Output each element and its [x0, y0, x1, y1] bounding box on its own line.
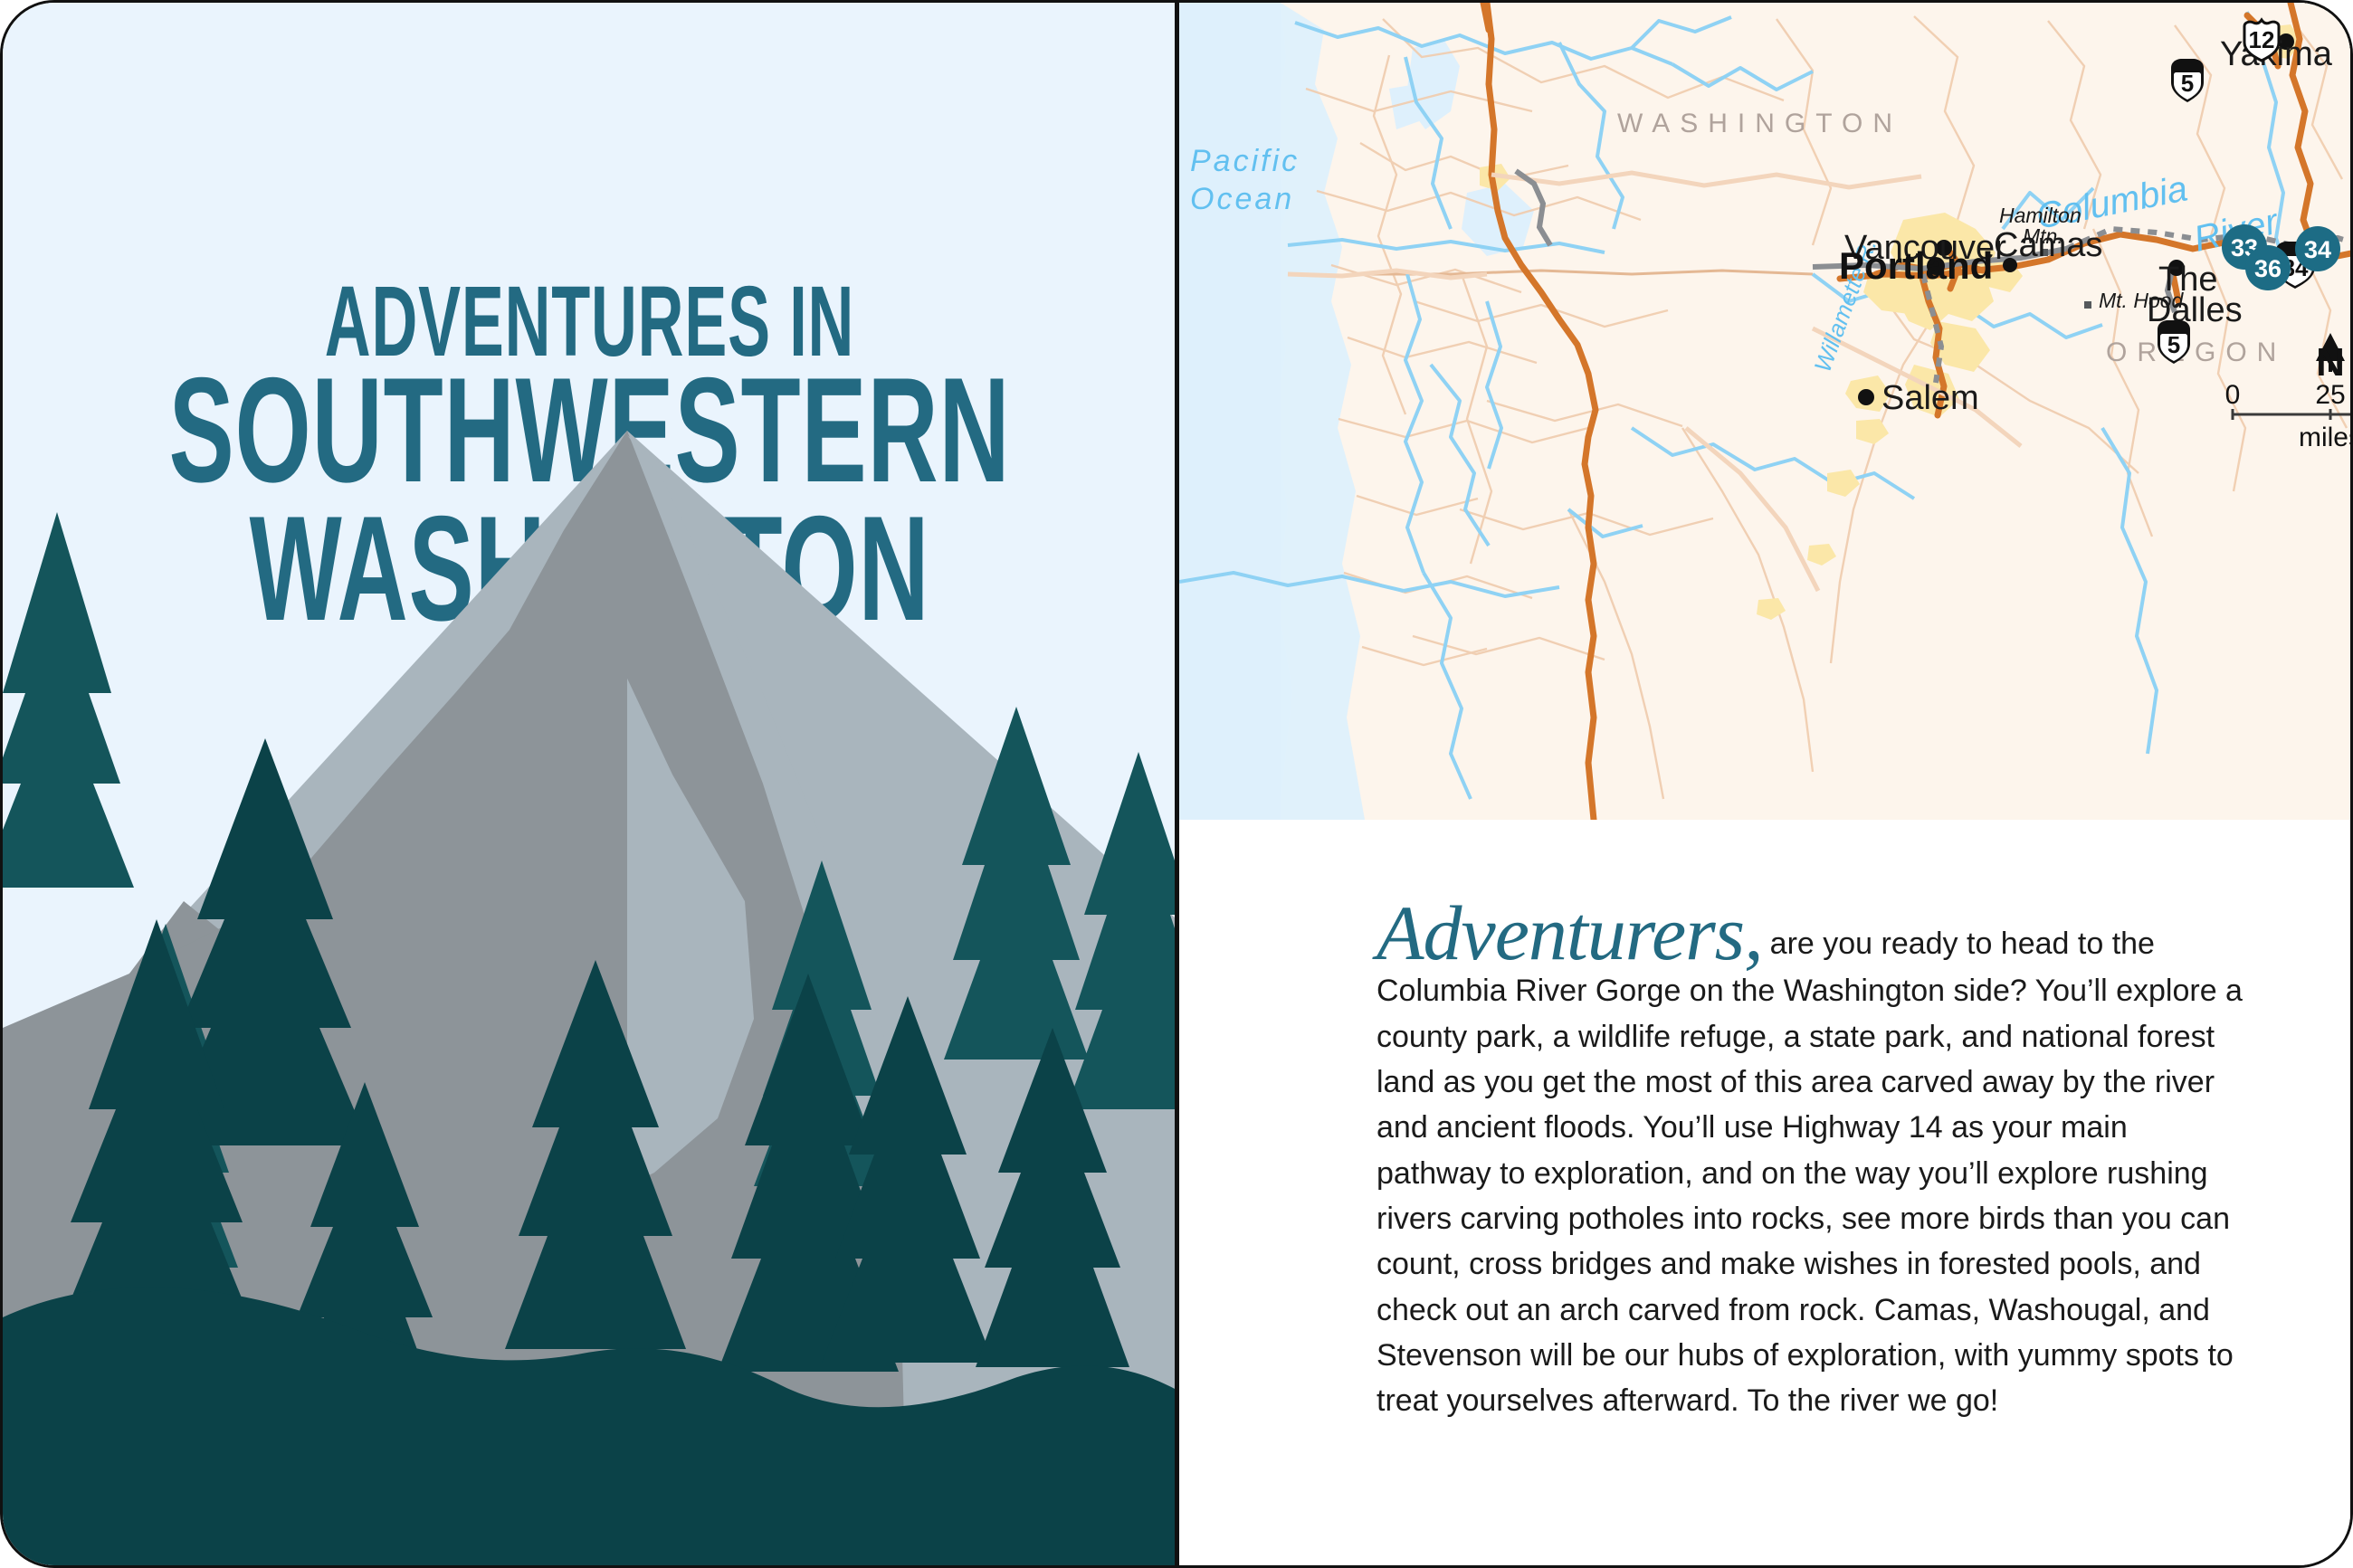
region-locator-map[interactable]: Pacific Ocean WASHINGTON OREGON Columbia… — [1179, 3, 2353, 820]
route-shield-label-5-south: 5 — [2167, 331, 2180, 358]
scale-tick-0: 0 — [2225, 380, 2241, 410]
map-label-city-portland: Portland — [1839, 244, 1993, 287]
map-label-pacific-ocean-line1: Pacific — [1190, 144, 1300, 178]
scale-unit-label: miles — [2299, 423, 2353, 452]
mountain-forest-illustration — [3, 394, 1176, 1568]
intro-body-text: are you ready to head to the Columbia Ri… — [1377, 927, 2243, 1418]
map-label-state-oregon: OREGON — [2106, 337, 2286, 367]
site-marker-36[interactable]: 36 — [2245, 245, 2291, 290]
site-marker-label-34: 34 — [2304, 236, 2331, 263]
left-page: ADVENTURES IN SOUTHWESTERN WASHINGTON — [3, 3, 1176, 1568]
route-shield-label-12: 12 — [2249, 26, 2275, 53]
city-dot-salem — [1858, 389, 1874, 405]
intro-copy-block: Adventurers,are you ready to head to the… — [1377, 898, 2245, 1424]
compass-north-indicator: N — [2316, 333, 2345, 385]
peak-marker-mt-hood — [2084, 301, 2091, 309]
book-spread: ADVENTURES IN SOUTHWESTERN WASHINGTON — [0, 0, 2353, 1568]
route-shield-us-12: 12 — [2244, 20, 2279, 61]
map-label-pacific-ocean-line2: Ocean — [1190, 182, 1294, 216]
route-shield-label-5-north: 5 — [2181, 70, 2194, 97]
intro-greeting: Adventurers, — [1377, 889, 1770, 976]
map-label-state-washington: WASHINGTON — [1617, 109, 1902, 138]
map-label-city-camas: Camas — [1994, 226, 2102, 264]
right-page: Pacific Ocean WASHINGTON OREGON Columbia… — [1179, 3, 2353, 1568]
site-marker-label-36: 36 — [2254, 255, 2282, 282]
compass-label-n: N — [2316, 340, 2345, 385]
map-label-city-salem: Salem — [1881, 379, 1979, 417]
site-marker-34[interactable]: 34 — [2295, 226, 2340, 271]
scale-tick-25: 25 — [2315, 380, 2345, 410]
intro-paragraph: Adventurers,are you ready to head to the… — [1377, 898, 2245, 1424]
